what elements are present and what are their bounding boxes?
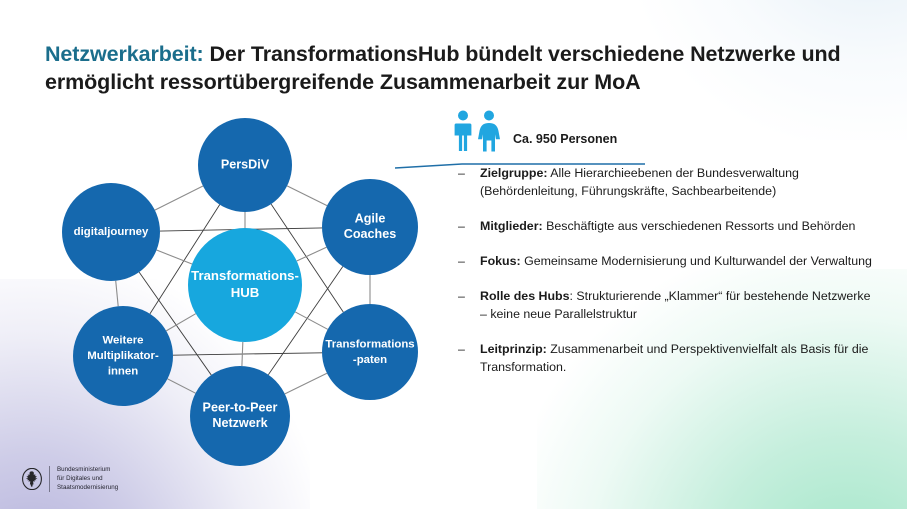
node-label-line: digitaljourney [74, 226, 149, 238]
node-label-line: Transformations [325, 338, 414, 350]
diagram-node-paten[interactable]: Transformations-paten [322, 304, 418, 400]
page-title-accent: Netzwerkarbeit: [45, 42, 204, 66]
diagram-node-digitaljourney[interactable]: digitaljourney [62, 183, 160, 281]
bullet-dash: – [458, 341, 465, 359]
node-circle[interactable] [322, 304, 418, 400]
bullet-dash: – [458, 218, 465, 236]
node-label-line: Coaches [344, 227, 397, 241]
bullet-dash: – [458, 288, 465, 306]
diagram-node-p2p[interactable]: Peer-to-PeerNetzwerk [190, 366, 290, 466]
person-female-icon [478, 111, 500, 152]
node-label-line: Multiplikator- [87, 350, 159, 362]
diagram-edge [167, 379, 195, 393]
people-icon-group [452, 110, 508, 152]
node-label-line: -paten [353, 354, 387, 366]
hub-label-line: HUB [231, 285, 260, 300]
bullet-term: Leitprinzip: [480, 342, 547, 356]
hub-label-line: Transformations- [191, 268, 299, 283]
node-label-line: Netzwerk [212, 416, 268, 430]
logo-divider [49, 466, 50, 492]
person-male-icon [455, 111, 472, 152]
diagram-edge [116, 281, 118, 306]
diagram-node-hub[interactable]: Transformations-HUB [188, 228, 302, 342]
diagram-spoke [242, 342, 243, 366]
bullet-text: Gemeinsame Modernisierung und Kulturwand… [521, 254, 872, 268]
bullet-term: Zielgruppe: [480, 166, 547, 180]
page-title: Netzwerkarbeit: Der TransformationsHub b… [45, 40, 885, 97]
bullet-term: Mitglieder: [480, 219, 543, 233]
bullet-dash: – [458, 165, 465, 183]
bundesadler-icon [22, 468, 42, 490]
slide-canvas: Netzwerkarbeit: Der TransformationsHub b… [0, 0, 907, 509]
bullet-item: –Mitglieder: Beschäftigte aus verschiede… [458, 218, 878, 236]
node-label-line: Agile [355, 212, 386, 226]
bullet-term: Fokus: [480, 254, 521, 268]
logo-text: Bundesministerium für Digitales und Staa… [57, 466, 118, 492]
diagram-node-multiplikator[interactable]: WeitereMultiplikator-innen [73, 306, 173, 406]
ministry-logo: Bundesministerium für Digitales und Staa… [22, 466, 118, 492]
diagram-edge [155, 186, 203, 210]
bullet-text: Beschäftigte aus verschiedenen Ressorts … [543, 219, 856, 233]
bullet-item: –Rolle des Hubs: Strukturierende „Klamme… [458, 288, 878, 324]
bullet-term: Rolle des Hubs [480, 289, 570, 303]
bullet-item: –Zielgruppe: Alle Hierarchieebenen der B… [458, 165, 878, 201]
diagram-edge [285, 373, 327, 394]
network-diagram-svg: Transformations-HUBPersDiVAgileCoachesTr… [40, 108, 440, 478]
diagram-spoke [166, 314, 196, 331]
network-diagram: Transformations-HUBPersDiVAgileCoachesTr… [40, 108, 440, 478]
node-label-line: innen [108, 366, 138, 378]
diagram-edge [287, 186, 327, 206]
node-label-line: Peer-to-Peer [203, 401, 278, 415]
node-label-line: PersDiV [221, 157, 270, 171]
node-label-line: Weitere [103, 335, 144, 347]
bullet-item: –Leitprinzip: Zusammenarbeit und Perspek… [458, 341, 878, 377]
diagram-node-agile[interactable]: AgileCoaches [322, 179, 418, 275]
diagram-edge [173, 353, 322, 355]
diagram-node-persdiv[interactable]: PersDiV [198, 118, 292, 212]
callout-title: Ca. 950 Personen [513, 132, 617, 146]
detail-bullet-list: –Zielgruppe: Alle Hierarchieebenen der B… [458, 165, 878, 377]
diagram-spoke [295, 312, 327, 329]
bullet-dash: – [458, 253, 465, 271]
bullet-item: –Fokus: Gemeinsame Modernisierung und Ku… [458, 253, 878, 271]
